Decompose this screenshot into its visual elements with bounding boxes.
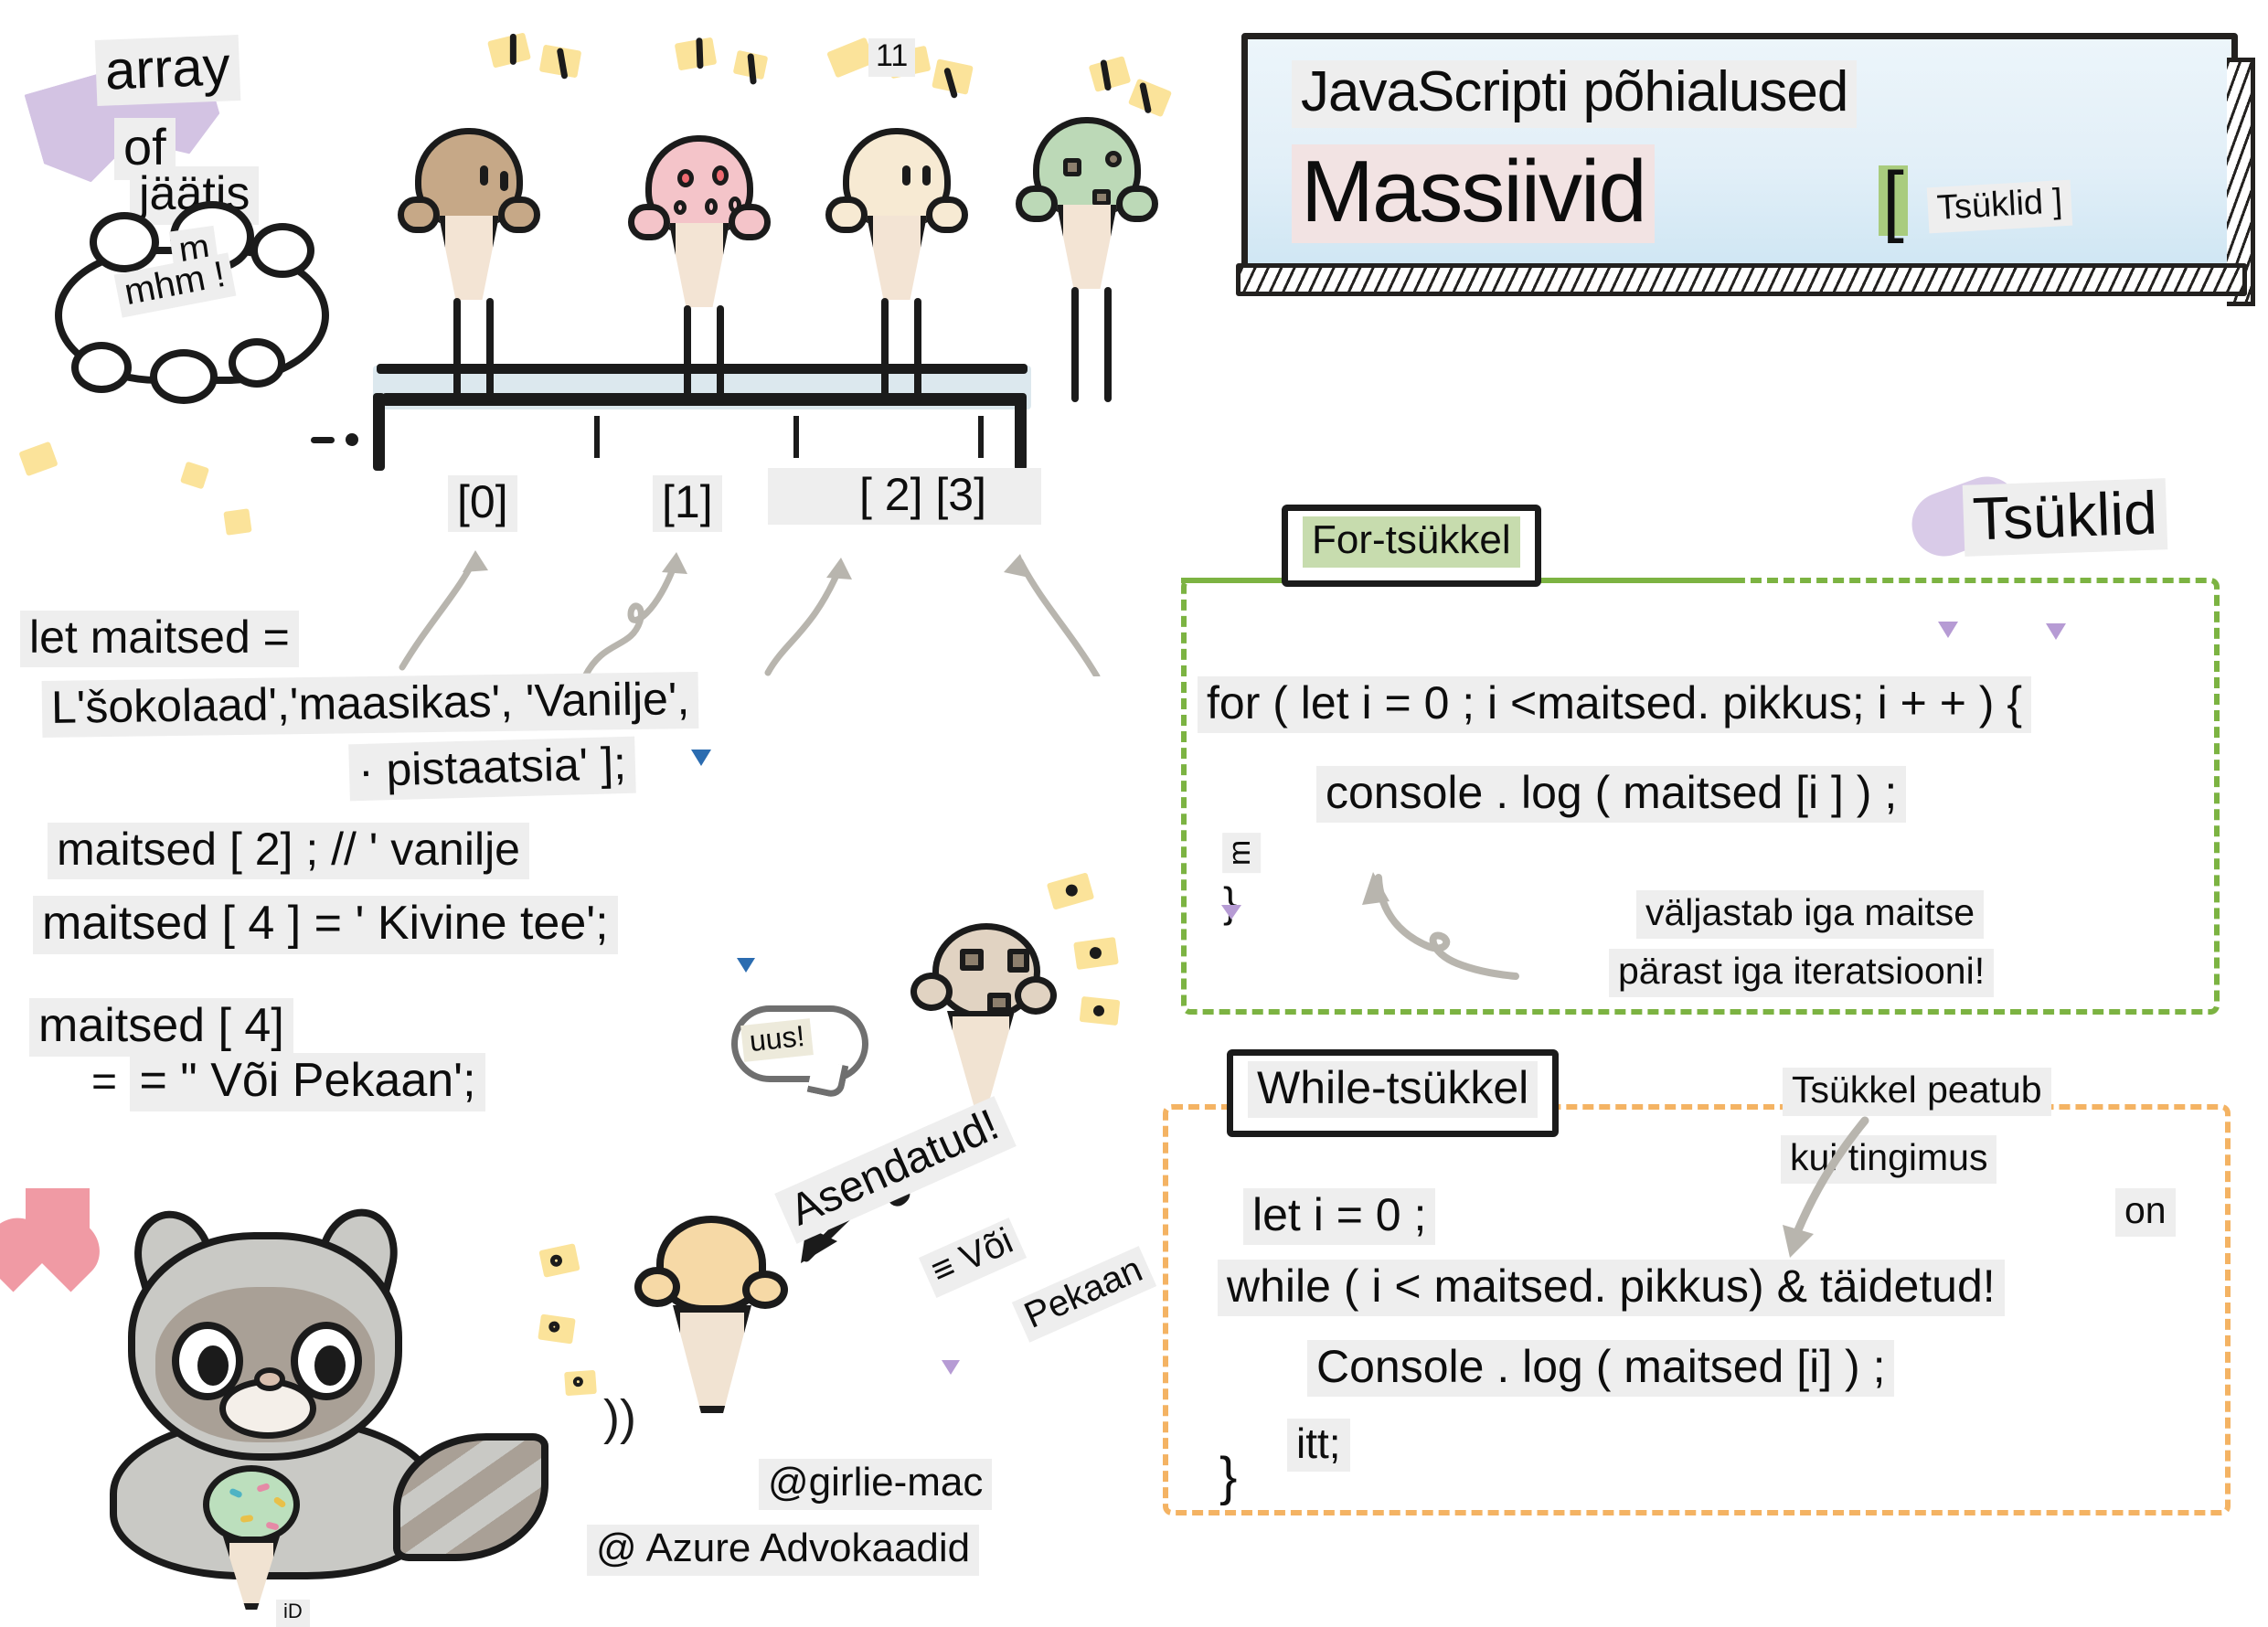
blue-tick: [737, 958, 755, 973]
confetti-piece: [180, 462, 209, 490]
while-close-brace: }: [1219, 1446, 1237, 1507]
for-loop-tag: For-tsükkel: [1282, 505, 1541, 587]
confetti-piece: [538, 1313, 576, 1344]
code-line-index-4: maitsed [ 4]: [29, 998, 293, 1057]
confetti-piece: [18, 441, 58, 477]
code-line-values: L'šokolaad','maasikas', 'Vanilje',: [42, 672, 699, 738]
artist-initials: iD: [276, 1600, 310, 1627]
shelf-right-leg: [1015, 393, 1027, 471]
while-note-line-3: on: [2115, 1188, 2176, 1237]
for-loop-close-brace: }: [1223, 877, 1237, 927]
confetti-piece: [538, 1243, 580, 1278]
for-note-arrow: [1362, 868, 1545, 987]
word-array: array: [95, 34, 240, 106]
cloud-trail-dot: [346, 433, 358, 446]
purple-fleck: [942, 1360, 960, 1375]
credit-handle: @girlie-mac: [759, 1459, 992, 1510]
while-note-line-1: Tsükkel peatub: [1783, 1068, 2051, 1116]
board-subtitle: Massiivid: [1292, 142, 1655, 243]
for-loop-close-m: m: [1222, 833, 1261, 873]
while-line-4: itt;: [1287, 1419, 1350, 1472]
confetti-piece: [1073, 937, 1119, 970]
title-board: JavaScripti põhialused Massiivid [ Tsükl…: [1241, 33, 2238, 275]
label-pekaan: Pekaan: [1012, 1246, 1156, 1343]
code-line-declare: let maitsed =: [20, 611, 299, 667]
confetti-piece: [932, 58, 974, 95]
code-line-values-cont: · pistaatsia' ];: [348, 737, 636, 802]
while-line-1: let i = 0 ;: [1243, 1188, 1435, 1245]
shelf-left-leg: [373, 393, 385, 471]
for-loop-note-line-1: väljastab iga maitse: [1636, 890, 1984, 939]
index-tick: [594, 416, 600, 458]
confetti-piece: [487, 32, 531, 68]
confetti-piece: [1047, 872, 1094, 910]
blue-tick: [691, 750, 711, 766]
raccoon-mascot: iD: [27, 1205, 539, 1589]
bracket-open: [: [1879, 165, 1908, 236]
cloud-trail-dash: [311, 437, 335, 443]
index-tick: [793, 416, 799, 458]
for-loop-line-1: for ( let i = 0 ; i <maitsed. pikkus; i …: [1198, 676, 2031, 733]
decorative-parens: )): [603, 1389, 636, 1446]
index-tick: [978, 416, 984, 458]
loops-heading: Tsüklid: [1963, 477, 2167, 557]
shelf-upper-rail: [377, 364, 1028, 374]
for-loop-line-2: console . log ( maitsed [i ] ) ;: [1316, 766, 1906, 823]
speech-bubble-text: uus!: [740, 1018, 814, 1062]
confetti-piece: [733, 50, 769, 80]
board-tsyklid-note: Tsüklid ]: [1927, 180, 2073, 234]
for-loop-note-line-2: pärast iga iteratsiooni!: [1609, 949, 1994, 997]
confetti-piece: [1080, 996, 1121, 1026]
shelf-top-edge: [382, 393, 1022, 406]
code-line-index-4-value: = = " Või Pekaan';: [91, 1053, 485, 1111]
board-base: [1236, 263, 2247, 296]
credit-org: @ Azure Advokaadid: [587, 1525, 979, 1576]
confetti-piece: [675, 37, 718, 71]
confetti-piece: [539, 45, 582, 79]
poster-canvas: array of jäätis 11 m mhm !: [0, 0, 2268, 1599]
code-line-read-index: maitsed [ 2] ; // ' vanilje: [48, 823, 529, 879]
while-line-2: while ( i < maitsed. pikkus) & täidetud!: [1218, 1260, 2005, 1316]
board-title: JavaScripti põhialused: [1292, 59, 1857, 128]
ice-cream-replaced: [640, 1216, 795, 1417]
confetti-piece: [1089, 56, 1132, 92]
confetti-piece: [1128, 79, 1172, 118]
code-line-assign-index: maitsed [ 4 ] = ' Kivine tee';: [33, 896, 618, 954]
while-line-3: Console . log ( maitsed [i] ) ;: [1307, 1340, 1894, 1397]
number-11: 11: [868, 38, 915, 77]
while-loop-tag: While-tsükkel: [1227, 1049, 1559, 1137]
while-note-arrow: [1719, 1111, 1883, 1276]
confetti-piece: [564, 1370, 597, 1396]
